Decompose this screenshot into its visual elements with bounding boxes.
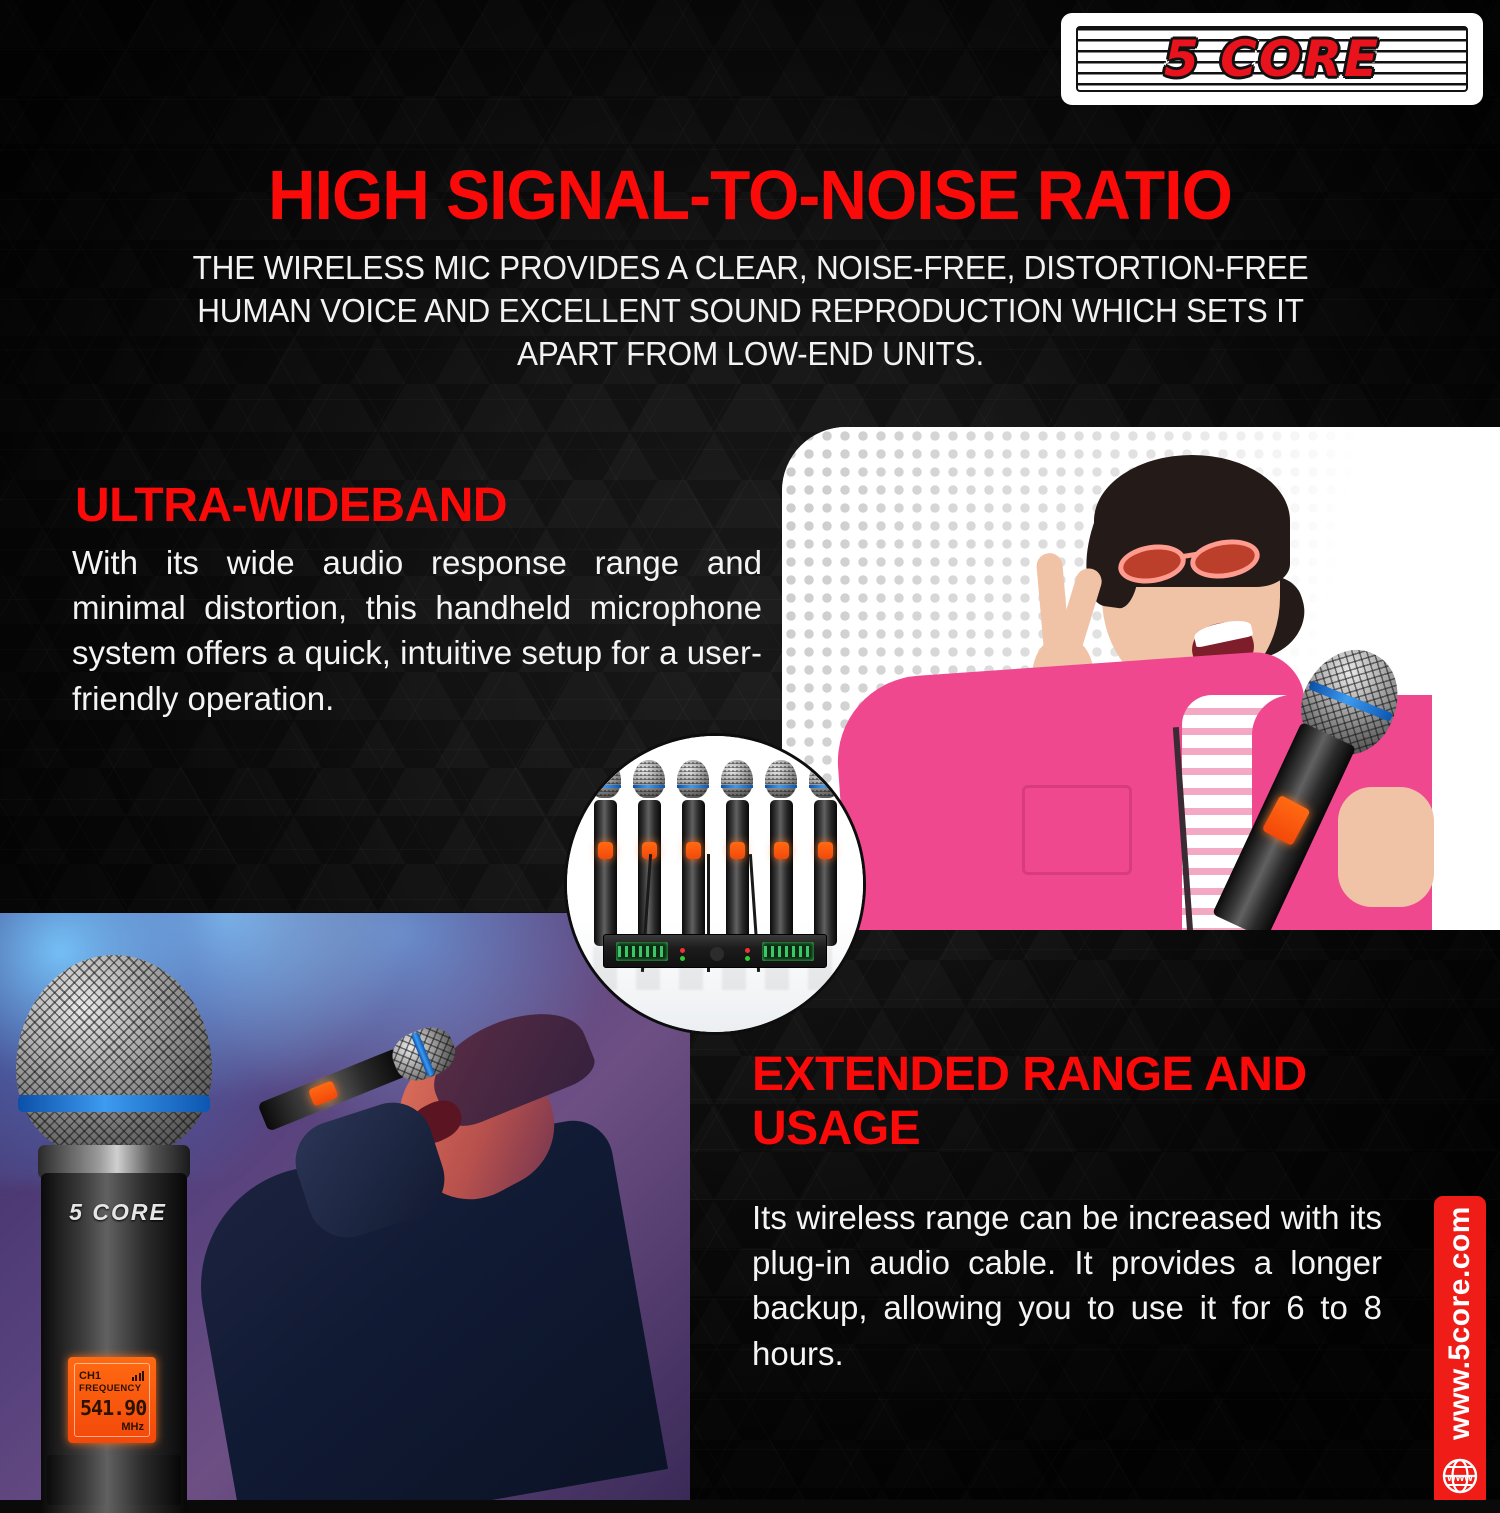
sunglasses-icon <box>1118 539 1268 585</box>
mic-brand-label: 5 CORE <box>58 1199 178 1226</box>
logo-text: 5 CORE <box>1078 28 1466 90</box>
svg-text:www: www <box>1446 1472 1473 1484</box>
page-headline: HIGH SIGNAL-TO-NOISE RATIO <box>45 160 1455 231</box>
mic-lcd-display: CH1 FREQUENCY 541.90 MHz <box>68 1357 156 1443</box>
website-url-text: www.5core.com <box>1443 1206 1477 1440</box>
feature-heading-extended-range: EXTENDED RANGE AND USAGE <box>752 1048 1392 1156</box>
mic-unit <box>589 760 621 948</box>
photo-woman-singing <box>782 427 1500 930</box>
lcd-channel: CH1 <box>79 1370 101 1382</box>
signal-bars-icon <box>132 1371 145 1381</box>
globe-icon: www <box>1440 1456 1480 1496</box>
page-subheadline: THE WIRELESS MIC PROVIDES A CLEAR, NOISE… <box>165 248 1335 377</box>
logo-stripes: 5 CORE <box>1076 26 1468 92</box>
mic-unit <box>677 760 709 948</box>
rack-receiver <box>603 934 827 968</box>
mic-unit <box>765 760 797 948</box>
lcd-unit: MHz <box>121 1421 144 1433</box>
product-set-inset <box>567 736 863 1032</box>
lcd-frequency-label: FREQUENCY <box>79 1383 141 1394</box>
brand-logo: 5 CORE <box>1062 14 1482 104</box>
website-url-strip[interactable]: www.5core.com www <box>1434 1196 1486 1500</box>
feature-body-extended-range: Its wireless range can be increased with… <box>752 1195 1382 1376</box>
feature-heading-ultra-wideband: ULTRA-WIDEBAND <box>75 478 507 533</box>
lcd-frequency-value: 541.90 <box>80 1396 146 1420</box>
mic-base <box>47 1455 181 1505</box>
mic-grille <box>16 955 212 1153</box>
product-microphone-large: 5 CORE CH1 FREQUENCY 541.90 MHz <box>10 955 220 1500</box>
feature-body-ultra-wideband: With its wide audio response range and m… <box>72 540 762 721</box>
mic-blue-ring <box>18 1095 210 1112</box>
mic-unit <box>809 760 841 948</box>
